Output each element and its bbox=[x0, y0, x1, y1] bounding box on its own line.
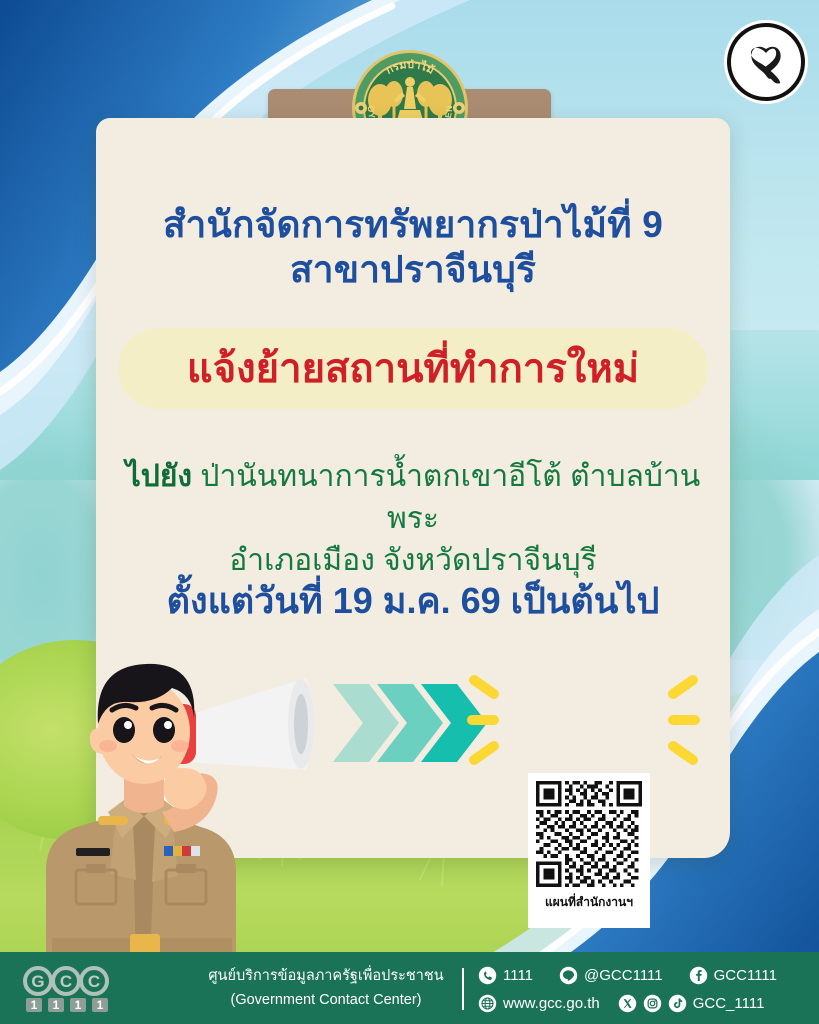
instagram-icon[interactable] bbox=[643, 994, 662, 1013]
gcc-logo-letter-c1: C bbox=[60, 972, 72, 991]
gcc-logo-letter-c2: C bbox=[88, 972, 100, 991]
mourning-ribbon-badge bbox=[727, 23, 805, 101]
gcc-logo-digit-4: 1 bbox=[97, 998, 104, 1012]
footer-divider bbox=[462, 968, 464, 1010]
qr-caption: แผนที่สำนักงานฯ bbox=[528, 893, 650, 912]
contacts-row-1: 1111 @GCC1111 GCC1111 bbox=[478, 961, 813, 989]
gcc-logo: G C C 1 1 1 1 bbox=[18, 964, 138, 1014]
contact-phone-label[interactable]: 1111 bbox=[503, 967, 533, 984]
headline-text: แจ้งย้ายสถานที่ทำการใหม่ bbox=[187, 347, 639, 391]
headline-pill: แจ้งย้ายสถานที่ทำการใหม่ bbox=[118, 328, 708, 409]
x-twitter-icon[interactable] bbox=[618, 994, 637, 1013]
gcc-logo-letter-g: G bbox=[31, 972, 44, 991]
address-line-2: อำเภอเมือง จังหวัดปราจีนบุรี bbox=[106, 540, 720, 582]
phone-icon[interactable] bbox=[478, 966, 497, 985]
line-icon[interactable] bbox=[559, 966, 578, 985]
title-block: สำนักจัดการทรัพยากรป่าไม้ที่ 9 สาขาปราจี… bbox=[96, 202, 730, 292]
contact-line-label[interactable]: @GCC1111 bbox=[584, 967, 663, 984]
globe-icon[interactable] bbox=[478, 994, 497, 1013]
effective-date-text: ตั้งแต่วันที่ 19 ม.ค. 69 เป็นต้นไป bbox=[96, 579, 730, 623]
page-title-line2: สาขาปราจีนบุรี bbox=[96, 247, 730, 292]
address-line-1: ไปยัง ป่านันทนาการน้ำตกเขาอีโต้ ตำบลบ้าน… bbox=[106, 456, 720, 540]
contacts-row-2: www.gcc.go.th GCC_1111 bbox=[478, 989, 813, 1017]
black-mourning-ribbon-icon bbox=[746, 40, 786, 84]
page-title-line1: สำนักจัดการทรัพยากรป่าไม้ที่ 9 bbox=[96, 202, 730, 247]
chevron-arrows-icon bbox=[329, 678, 489, 768]
footer-org-thai: ศูนย์บริการข้อมูลภาครัฐเพื่อประชาชน bbox=[196, 964, 456, 988]
contact-facebook-label[interactable]: GCC1111 bbox=[714, 967, 777, 984]
officer-with-megaphone bbox=[6, 620, 336, 965]
footer-org-name: ศูนย์บริการข้อมูลภาครัฐเพื่อประชาชน (Gov… bbox=[196, 964, 456, 1012]
gcc-logo-digit-3: 1 bbox=[75, 998, 82, 1012]
footer-contacts: 1111 @GCC1111 GCC1111 bbox=[478, 961, 813, 1017]
facebook-icon[interactable] bbox=[689, 966, 708, 985]
tiktok-icon[interactable] bbox=[668, 994, 687, 1013]
address-prefix: ไปยัง bbox=[126, 460, 192, 493]
gcc-logo-digit-2: 1 bbox=[53, 998, 60, 1012]
sparkle-dashes-icon bbox=[466, 658, 701, 788]
poster-root: กรมป่าไม้ ROYAL FOREST DEPARTMENT สำนักจ… bbox=[0, 0, 819, 1024]
qr-code-card[interactable]: แผนที่สำนักงานฯ bbox=[528, 773, 650, 928]
footer-bar: G C C 1 1 1 1 ศูนย์บริการข้อมูลภาครัฐเพื… bbox=[0, 952, 819, 1024]
qr-code[interactable] bbox=[536, 781, 642, 887]
contact-website-label[interactable]: www.gcc.go.th bbox=[503, 995, 600, 1012]
contact-social-label[interactable]: GCC_1111 bbox=[693, 995, 765, 1012]
address-block: ไปยัง ป่านันทนาการน้ำตกเขาอีโต้ ตำบลบ้าน… bbox=[106, 456, 720, 582]
footer-org-english: (Government Contact Center) bbox=[196, 988, 456, 1012]
gcc-logo-digit-1: 1 bbox=[31, 998, 38, 1012]
address-text-1: ป่านันทนาการน้ำตกเขาอีโต้ ตำบลบ้านพระ bbox=[192, 460, 700, 535]
